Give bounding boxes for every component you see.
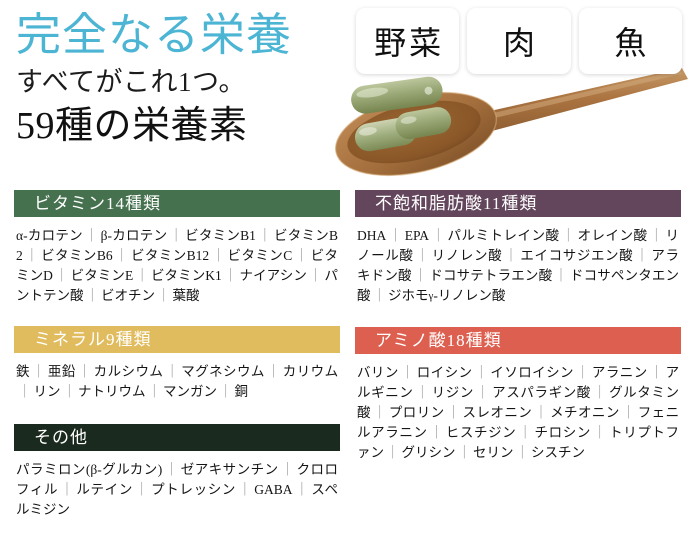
nutrient-item: グリシン	[402, 445, 456, 460]
item-separator: ｜	[456, 445, 474, 460]
chip-vegetable: 野菜	[356, 8, 459, 74]
right-column: 不飽和脂肪酸11種類 DHA｜EPA｜パルミトレイン酸｜オレイン酸｜リノール酸｜…	[355, 190, 681, 471]
panel-fats-title: 不飽和脂肪酸11種類	[355, 190, 681, 217]
nutrient-item: ビタミンB12	[131, 248, 209, 263]
gamma-glyph: γ	[429, 290, 434, 302]
nutrient-item: メチオニン	[550, 405, 620, 420]
item-separator: ｜	[429, 228, 448, 243]
item-separator: ｜	[76, 364, 94, 379]
panel-fats-items: DHA｜EPA｜パルミトレイン酸｜オレイン酸｜リノール酸｜リノレン酸｜エイコサジ…	[355, 217, 681, 306]
item-separator: ｜	[222, 268, 240, 283]
item-separator: ｜	[516, 425, 534, 440]
nutrient-item: ビタミンB6	[41, 248, 112, 263]
panel-unsaturated-fatty-acids: 不飽和脂肪酸11種類 DHA｜EPA｜パルミトレイン酸｜オレイン酸｜リノール酸｜…	[355, 190, 681, 306]
item-separator: ｜	[162, 462, 180, 477]
item-separator: ｜	[384, 445, 402, 460]
hero-section: 完全なる栄養 すべてがこれ1つ。 59種の栄養素 野菜 肉 魚	[0, 0, 690, 186]
nutrient-item: リジン	[432, 385, 474, 400]
nutrient-item: ジホモγ-リノレン酸	[388, 288, 505, 303]
nutrient-item: ビタミンB1	[185, 228, 256, 243]
item-separator: ｜	[371, 288, 389, 303]
nutrient-item: ルテイン	[76, 482, 133, 497]
item-separator: ｜	[58, 482, 76, 497]
panel-minerals-items: 鉄｜亜鉛｜カルシウム｜マグネシウム｜カリウム｜リン｜ナトリウム｜マンガン｜銅	[14, 353, 340, 402]
nutrient-item: ロイシン	[417, 365, 473, 380]
item-separator: ｜	[399, 365, 417, 380]
item-separator: ｜	[84, 288, 102, 303]
item-separator: ｜	[648, 228, 666, 243]
panel-amino-items: バリン｜ロイシン｜イソロイシン｜アラニン｜アルギニン｜リジン｜アスパラギン酸｜グ…	[355, 354, 681, 463]
panel-minerals: ミネラル9種類 鉄｜亜鉛｜カルシウム｜マグネシウム｜カリウム｜リン｜ナトリウム｜…	[14, 326, 340, 402]
nutrient-item: ゼアキサンチン	[181, 462, 279, 477]
left-column: ビタミン14種類 α-カロテン｜β-カロテン｜ビタミンB1｜ビタミンB2｜ビタミ…	[14, 190, 340, 528]
item-separator: ｜	[209, 248, 227, 263]
nutrient-item: ヒスチジン	[446, 425, 517, 440]
item-separator: ｜	[413, 385, 431, 400]
nutrient-item: ナイアシン	[240, 268, 307, 283]
nutrient-item: パルミトレイン酸	[448, 228, 560, 243]
item-separator: ｜	[113, 248, 131, 263]
chip-meat: 肉	[467, 8, 570, 74]
item-separator: ｜	[146, 384, 164, 399]
category-chip-group: 野菜 肉 魚	[356, 8, 682, 74]
panel-minerals-title: ミネラル9種類	[14, 326, 340, 353]
item-separator: ｜	[574, 365, 592, 380]
nutrient-item: バリン	[357, 365, 399, 380]
item-separator: ｜	[474, 385, 492, 400]
nutrient-item: アラニン	[592, 365, 648, 380]
item-separator: ｜	[163, 364, 181, 379]
page-subtitle: すべてがこれ1つ。	[16, 64, 356, 100]
panel-others: その他 パラミロン(β-グルカン)｜ゼアキサンチン｜クロロフィル｜ルテイン｜プト…	[14, 424, 340, 520]
item-separator: ｜	[83, 228, 101, 243]
page-title: 完全なる栄養	[16, 8, 356, 62]
nutrient-item: カリウム	[283, 364, 338, 379]
nutrient-item: ナトリウム	[78, 384, 146, 399]
nutrient-item: ビタミンE	[71, 268, 134, 283]
nutrient-item: スレオニン	[463, 405, 533, 420]
panel-vitamins-title: ビタミン14種類	[14, 190, 340, 217]
item-separator: ｜	[428, 425, 446, 440]
nutrient-item: GABA	[254, 482, 292, 497]
nutrient-item: α-カロテン	[16, 228, 83, 243]
nutrient-item: 亜鉛	[48, 364, 76, 379]
panel-amino-acids: アミノ酸18種類 バリン｜ロイシン｜イソロイシン｜アラニン｜アルギニン｜リジン｜…	[355, 327, 681, 463]
hero-text-block: 完全なる栄養 すべてがこれ1つ。 59種の栄養素	[16, 8, 356, 150]
item-separator: ｜	[30, 364, 48, 379]
item-separator: ｜	[265, 364, 283, 379]
nutrient-item: ビオチン	[101, 288, 155, 303]
item-separator: ｜	[293, 482, 312, 497]
item-separator: ｜	[236, 482, 254, 497]
item-separator: ｜	[413, 248, 431, 263]
item-separator: ｜	[633, 248, 651, 263]
nutrient-item: 鉄	[16, 364, 30, 379]
spoon-illustration	[330, 62, 690, 186]
item-separator: ｜	[412, 268, 430, 283]
item-separator: ｜	[502, 248, 520, 263]
item-separator: ｜	[279, 462, 297, 477]
nutrient-item: リノレン酸	[432, 248, 503, 263]
item-separator: ｜	[23, 248, 41, 263]
nutrient-item: ビタミンC	[228, 248, 293, 263]
chip-fish: 魚	[579, 8, 682, 74]
item-separator: ｜	[532, 405, 550, 420]
item-separator: ｜	[217, 384, 235, 399]
item-separator: ｜	[53, 268, 71, 283]
panel-vitamins-items: α-カロテン｜β-カロテン｜ビタミンB1｜ビタミンB2｜ビタミンB6｜ビタミンB…	[14, 217, 340, 306]
nutrient-item: 銅	[235, 384, 249, 399]
item-separator: ｜	[552, 268, 570, 283]
item-separator: ｜	[292, 248, 310, 263]
item-separator: ｜	[371, 405, 389, 420]
nutrient-item: ドコサテトラエン酸	[429, 268, 552, 283]
item-separator: ｜	[591, 385, 609, 400]
nutrient-item: シスチン	[531, 445, 585, 460]
panel-amino-title: アミノ酸18種類	[355, 327, 681, 354]
nutrient-item: セリン	[473, 445, 514, 460]
nutrient-item: プロリン	[389, 405, 445, 420]
nutrient-item: DHA	[357, 228, 386, 243]
nutrient-item: リン	[34, 384, 61, 399]
nutrient-item: チロシン	[534, 425, 590, 440]
item-separator: ｜	[133, 482, 151, 497]
item-separator: ｜	[155, 288, 173, 303]
item-separator: ｜	[386, 228, 405, 243]
nutrient-item: β-カロテン	[101, 228, 168, 243]
item-separator: ｜	[133, 268, 151, 283]
panel-others-title: その他	[14, 424, 340, 451]
item-separator: ｜	[167, 228, 185, 243]
nutrient-item: EPA	[405, 228, 429, 243]
nutrient-item: パラミロン(β-グルカン)	[16, 462, 162, 477]
nutrient-item: オレイン酸	[578, 228, 648, 243]
item-separator: ｜	[591, 425, 609, 440]
nutrient-item: 葉酸	[173, 288, 200, 303]
item-separator: ｜	[648, 365, 666, 380]
infographic-page: 完全なる栄養 すべてがこれ1つ。 59種の栄養素 野菜 肉 魚	[0, 0, 690, 551]
nutrient-item: プトレッシン	[151, 482, 236, 497]
nutrient-item: エイコサジエン酸	[520, 248, 633, 263]
item-separator: ｜	[445, 405, 463, 420]
panel-vitamins: ビタミン14種類 α-カロテン｜β-カロテン｜ビタミンB1｜ビタミンB2｜ビタミ…	[14, 190, 340, 306]
nutrient-item: アスパラギン酸	[492, 385, 591, 400]
nutrient-item: マグネシウム	[181, 364, 265, 379]
item-separator: ｜	[16, 384, 34, 399]
nutrient-item: ビタミンK1	[151, 268, 222, 283]
item-separator: ｜	[620, 405, 638, 420]
nutrient-item: マンガン	[163, 384, 217, 399]
item-separator: ｜	[514, 445, 532, 460]
item-separator: ｜	[61, 384, 79, 399]
item-separator: ｜	[472, 365, 490, 380]
item-separator: ｜	[307, 268, 325, 283]
item-separator: ｜	[256, 228, 274, 243]
nutrient-count-title: 59種の栄養素	[16, 102, 356, 150]
panel-others-items: パラミロン(β-グルカン)｜ゼアキサンチン｜クロロフィル｜ルテイン｜プトレッシン…	[14, 451, 340, 520]
nutrient-panels: ビタミン14種類 α-カロテン｜β-カロテン｜ビタミンB1｜ビタミンB2｜ビタミ…	[0, 190, 690, 551]
nutrient-item: イソロイシン	[490, 365, 574, 380]
spoon-capsules-photo	[330, 62, 690, 186]
item-separator: ｜	[560, 228, 578, 243]
nutrient-item: カルシウム	[94, 364, 164, 379]
